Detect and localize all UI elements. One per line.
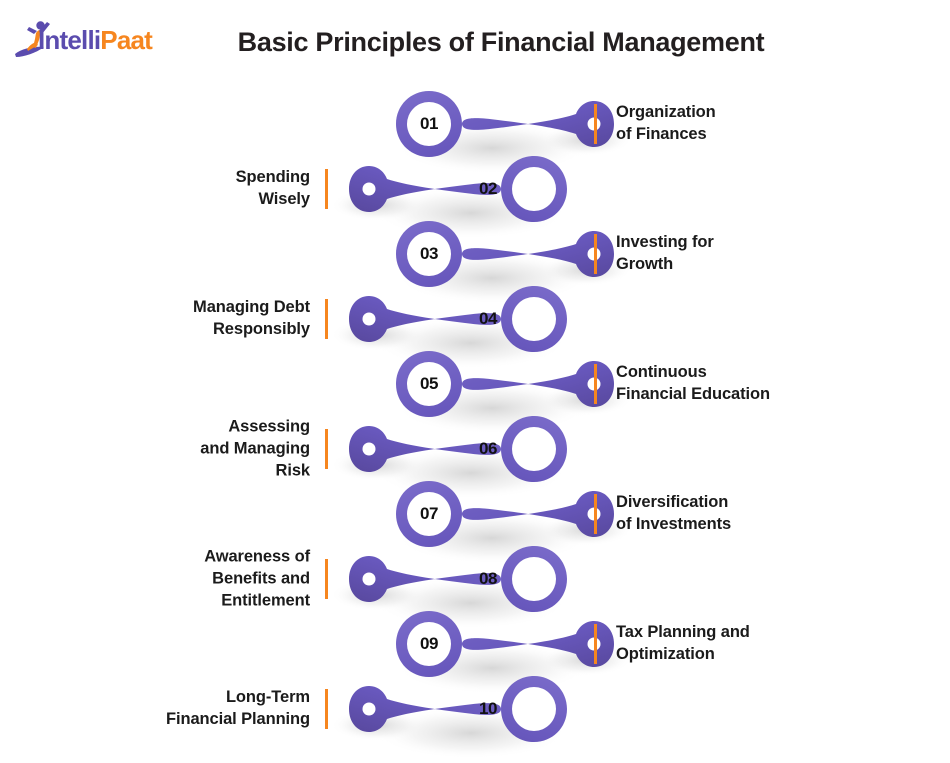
principle-row: 10Long-TermFinancial Planning xyxy=(0,667,950,751)
principles-list: 01Organizationof Finances 02SpendingWise… xyxy=(0,82,950,760)
principle-pin-10[interactable]: 10 xyxy=(335,667,565,751)
page-title: Basic Principles of Financial Management xyxy=(0,27,950,58)
divider-tick xyxy=(594,494,597,534)
divider-tick xyxy=(594,104,597,144)
divider-tick xyxy=(325,559,328,599)
principle-label: Tax Planning andOptimization xyxy=(616,622,916,666)
divider-tick xyxy=(325,429,328,469)
pin-shape-left xyxy=(317,655,583,763)
divider-tick xyxy=(325,689,328,729)
principle-label: SpendingWisely xyxy=(20,167,310,211)
principle-label: Managing DebtResponsibly xyxy=(20,297,310,341)
principle-label: Long-TermFinancial Planning xyxy=(20,687,310,731)
divider-tick xyxy=(325,299,328,339)
divider-tick xyxy=(594,624,597,664)
principle-label: Diversificationof Investments xyxy=(616,492,916,536)
divider-tick xyxy=(325,169,328,209)
divider-tick xyxy=(594,234,597,274)
principle-label: ContinuousFinancial Education xyxy=(616,362,916,406)
principle-number: 10 xyxy=(468,689,508,729)
principle-label: Organizationof Finances xyxy=(616,102,916,146)
divider-tick xyxy=(594,364,597,404)
principle-label: Investing forGrowth xyxy=(616,232,916,276)
